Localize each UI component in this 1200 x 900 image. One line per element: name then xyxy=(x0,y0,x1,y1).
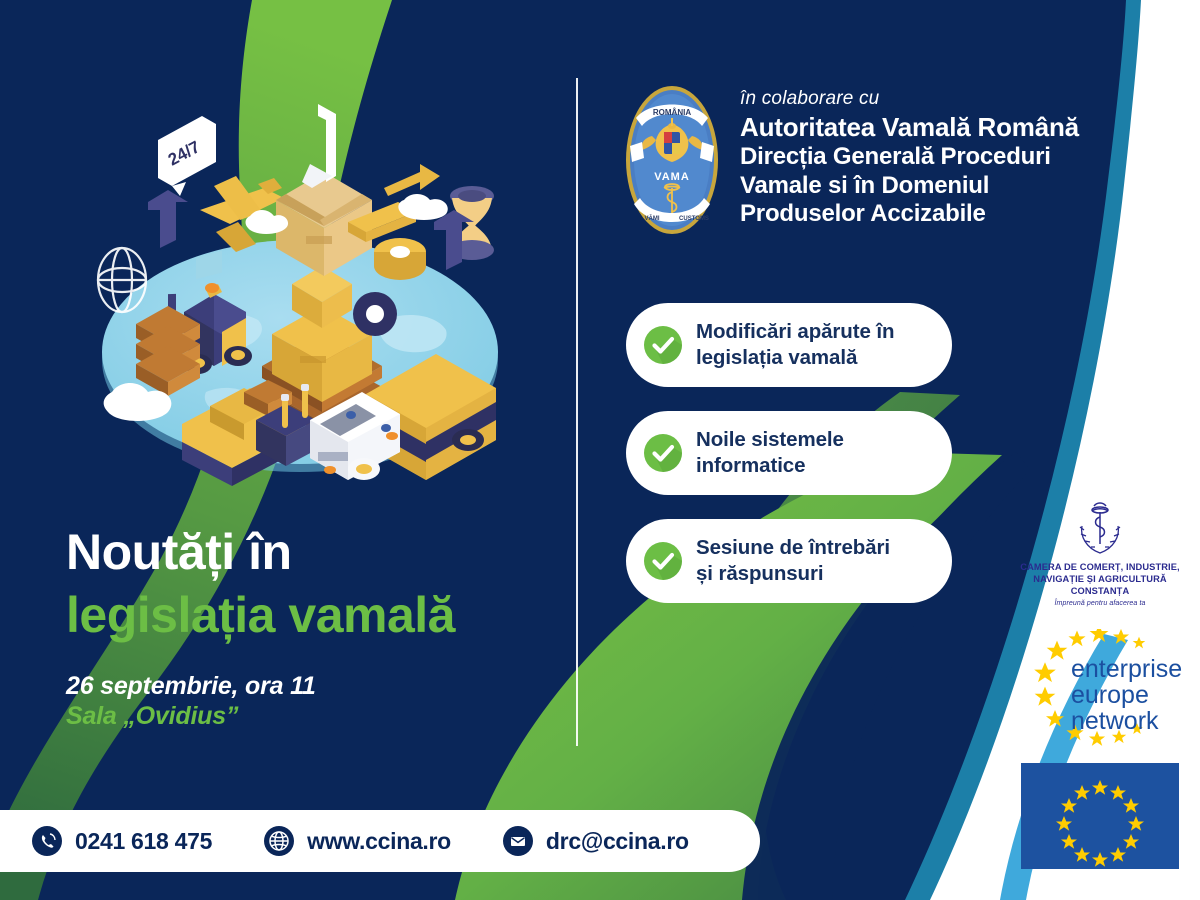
een-stars-and-wordmark: enterprise europe network xyxy=(1015,629,1185,747)
page-title: Noutăți în legislația vamală xyxy=(66,525,546,643)
check-circle-icon xyxy=(644,542,682,580)
contact-email[interactable]: drc@ccina.ro xyxy=(503,826,689,856)
ccina-line1: CAMERA DE COMERȚ, INDUSTRIE, xyxy=(1006,562,1194,574)
check-circle-icon xyxy=(644,434,682,472)
svg-text:ROMÂNIA: ROMÂNIA xyxy=(653,108,691,117)
contact-email-label: drc@ccina.ro xyxy=(546,828,689,855)
feature-2-line1: Noile sistemele xyxy=(696,427,844,453)
een-word-1: enterprise xyxy=(1071,655,1182,683)
contact-phone[interactable]: 0241 618 475 xyxy=(32,826,212,856)
enterprise-europe-network-logo: enterprise europe network xyxy=(1006,629,1194,747)
partner-name: Autoritatea Vamală Română xyxy=(740,113,1079,142)
ccina-tagline: Împreună pentru afacerea ta xyxy=(1006,600,1194,607)
logo-column: CAMERA DE COMERȚ, INDUSTRIE, NAVIGAȚIE Ș… xyxy=(1006,500,1194,869)
event-meta: 26 septembrie, ora 11 Sala „Ovidius” xyxy=(66,672,526,731)
feature-item-1-label: Modificări apărute în legislația vamală xyxy=(696,319,894,371)
eu-flag-stars xyxy=(1021,763,1179,869)
feature-list: Modificări apărute în legislația vamală … xyxy=(626,303,952,627)
caduceus-laurel-icon xyxy=(1072,500,1128,558)
feature-item-3-label: Sesiune de întrebări și răspunsuri xyxy=(696,535,890,587)
een-word-3: network xyxy=(1071,707,1159,735)
vama-emblem: ROMÂNIA VAMA xyxy=(622,82,722,238)
svg-text:VAMA: VAMA xyxy=(654,171,690,183)
feature-item-3[interactable]: Sesiune de întrebări și răspunsuri xyxy=(626,519,952,603)
partner-header: ROMÂNIA VAMA xyxy=(622,82,1142,238)
contact-bar: 0241 618 475 www.ccina.ro drc xyxy=(0,810,760,872)
globe-icon xyxy=(264,826,294,856)
ccina-line2: NAVIGAȚIE ȘI AGRICULTURĂ CONSTANȚA xyxy=(1006,574,1194,598)
feature-item-2[interactable]: Noile sistemele informatice xyxy=(626,411,952,495)
feature-2-line2: informatice xyxy=(696,453,844,479)
collaboration-label: în colaborare cu xyxy=(740,88,1079,110)
feature-item-2-label: Noile sistemele informatice xyxy=(696,427,844,479)
tire-icon xyxy=(353,292,397,336)
svg-text:CUSTOMS: CUSTOMS xyxy=(679,216,709,222)
partner-department-line2: Vamale si în Domeniul xyxy=(740,172,1079,199)
envelope-icon xyxy=(503,826,533,856)
title-line2: legislația vamală xyxy=(66,588,546,643)
feature-1-line1: Modificări apărute în xyxy=(696,319,894,345)
een-word-2: europe xyxy=(1071,681,1149,709)
partner-department-line1: Direcția Generală Proceduri xyxy=(740,143,1079,170)
feature-1-line2: legislația vamală xyxy=(696,345,894,371)
event-room: Sala „Ovidius” xyxy=(66,702,526,732)
title-line1: Noutăți în xyxy=(66,525,546,580)
partner-department-line3: Produselor Accizabile xyxy=(740,200,1079,227)
ccina-logo: CAMERA DE COMERȚ, INDUSTRIE, NAVIGAȚIE Ș… xyxy=(1006,500,1194,607)
tape-roll-icon xyxy=(374,238,426,280)
vertical-divider xyxy=(576,78,578,746)
feature-item-1[interactable]: Modificări apărute în legislația vamală xyxy=(626,303,952,387)
contact-website-label: www.ccina.ro xyxy=(307,828,451,855)
feature-3-line1: Sesiune de întrebări xyxy=(696,535,890,561)
check-circle-icon xyxy=(644,326,682,364)
poster-canvas: 24/7 xyxy=(0,0,1200,900)
feature-3-line2: și răspunsuri xyxy=(696,561,890,587)
svg-text:VĂMI: VĂMI xyxy=(645,215,660,222)
event-date: 26 septembrie, ora 11 xyxy=(66,672,526,702)
european-union-flag xyxy=(1006,763,1194,869)
phone-icon xyxy=(32,826,62,856)
contact-website[interactable]: www.ccina.ro xyxy=(264,826,451,856)
contact-phone-label: 0241 618 475 xyxy=(75,828,212,855)
